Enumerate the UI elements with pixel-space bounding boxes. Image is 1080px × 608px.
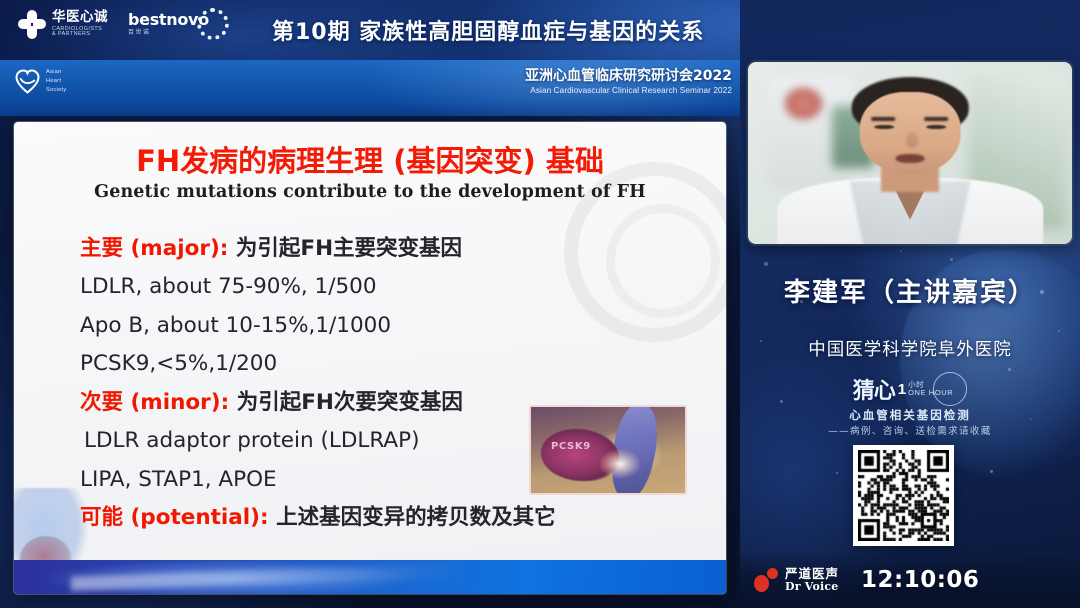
ahs-line3: Society xyxy=(46,86,66,95)
promo-line-2: ——病例、咨询、送检需求请收藏 xyxy=(740,423,1080,437)
slide-line: LDLR, about 75-90%, 1/500 xyxy=(80,268,706,306)
slide-line: 主要 (major): 为引起FH主要突变基因 xyxy=(80,230,706,268)
slide-title: FH发病的病理生理 (基因突变) 基础 xyxy=(14,138,726,180)
speaker-eye-right xyxy=(926,125,946,130)
logo-huayixincheng-cn: 华医心诚 xyxy=(52,11,108,25)
slide-line: 可能 (potential): 上述基因变异的拷贝数及其它 xyxy=(80,499,706,537)
logo-huayixincheng: 华医心诚 CARDIOLOGISTS & PARTNERS xyxy=(18,10,108,39)
heart-icon xyxy=(14,68,41,95)
slide-line: PCSK9,<5%,1/200 xyxy=(80,345,706,383)
speaker-eye-left xyxy=(874,125,894,130)
pcsk9-image-label: PCSK9 xyxy=(551,441,591,452)
presentation-slide[interactable]: FH发病的病理生理 (基因突变) 基础 Genetic mutations co… xyxy=(14,122,726,594)
slide-line-text: LDLR, about 75-90%, 1/500 xyxy=(80,274,377,299)
ahs-line1: Asian xyxy=(46,68,66,77)
seminar-title-en: Asian Cardiovascular Clinical Research S… xyxy=(525,86,732,95)
slide-line-key: 可能 (potential): xyxy=(80,505,269,530)
logo-dr-voice: 严道医声 Dr Voice xyxy=(754,567,839,593)
slide-line-text: Apo B, about 10-15%,1/1000 xyxy=(80,313,391,338)
slide-line-text: LDLR adaptor protein (LDLRAP) xyxy=(84,428,419,453)
logo-huayixincheng-en2: & PARTNERS xyxy=(52,32,108,37)
logo-bestnovo-cn: 百世诺 xyxy=(128,30,209,36)
wechat-qr-code[interactable] xyxy=(853,445,954,546)
header-logo-group: 华医心诚 CARDIOLOGISTS & PARTNERS bestnovo 百… xyxy=(18,8,229,40)
clover-cross-icon xyxy=(18,10,45,39)
slide-subtitle: Genetic mutations contribute to the deve… xyxy=(14,182,726,202)
brand-circle-icon xyxy=(933,372,967,406)
speaker-organization: 中国医学科学院阜外医院 xyxy=(740,336,1080,361)
page-title: 第10期 家族性高胆固醇血症与基因的关系 xyxy=(272,0,704,60)
slide-line-text: LIPA, STAP1, APOE xyxy=(80,467,277,492)
speaker-video-feed[interactable] xyxy=(748,62,1072,244)
brand-cn: 猜心 xyxy=(853,373,895,405)
slide-line-key: 主要 (major): xyxy=(80,236,228,261)
image-glow xyxy=(599,449,641,479)
slide-line-text: PCSK9,<5%,1/200 xyxy=(80,351,277,376)
dr-voice-en: Dr Voice xyxy=(785,581,839,593)
seminar-title-block: 亚洲心血管临床研究研讨会2022 Asian Cardiovascular Cl… xyxy=(525,68,732,95)
dr-voice-mark-icon xyxy=(754,568,780,592)
logo-asian-heart-society: Asian Heart Society xyxy=(14,68,66,96)
seminar-title-cn: 亚洲心血管临床研究研讨会2022 xyxy=(525,68,732,84)
promo-line-1: 心血管相关基因检测 xyxy=(740,407,1080,423)
slide-line: Apo B, about 10-15%,1/1000 xyxy=(80,307,706,345)
logo-bestnovo: bestnovo 百世诺 xyxy=(128,8,229,40)
pcsk9-structure-image: PCSK9 xyxy=(529,405,687,495)
dr-voice-cn: 严道医声 xyxy=(785,567,839,581)
stream-clock: 12:10:06 xyxy=(861,567,979,593)
speaker-mouth xyxy=(895,154,924,163)
panel-bottom-bar: 严道医声 Dr Voice 12:10:06 xyxy=(740,552,1080,608)
slide-line-text: 为引起FH主要突变基因 xyxy=(228,236,462,261)
broadcast-stage: 华医心诚 CARDIOLOGISTS & PARTNERS bestnovo 百… xyxy=(0,0,1080,608)
slide-line-text: 为引起FH次要突变基因 xyxy=(229,390,463,415)
speaker-nose xyxy=(906,132,918,148)
right-side-panel: 李建军（主讲嘉宾） 中国医学科学院阜外医院 猜心 1 小时 ONE HOUR 心… xyxy=(740,0,1080,608)
seminar-subheader-bar: Asian Heart Society 亚洲心血管临床研究研讨会2022 Asi… xyxy=(0,60,740,116)
speaker-brow-right xyxy=(925,117,949,121)
slide-footer-band xyxy=(14,560,726,594)
brand-logo-onehour: 猜心 1 小时 ONE HOUR xyxy=(740,372,1080,406)
brand-number: 1 xyxy=(898,381,906,398)
speaker-figure xyxy=(777,77,1043,244)
dotted-ring-icon xyxy=(197,8,229,40)
speaker-name: 李建军（主讲嘉宾） xyxy=(740,272,1080,309)
speaker-brow-left xyxy=(871,117,895,121)
slide-line-key: 次要 (minor): xyxy=(80,390,229,415)
slide-line-text: 上述基因变异的拷贝数及其它 xyxy=(269,505,556,530)
ahs-line2: Heart xyxy=(46,77,66,86)
